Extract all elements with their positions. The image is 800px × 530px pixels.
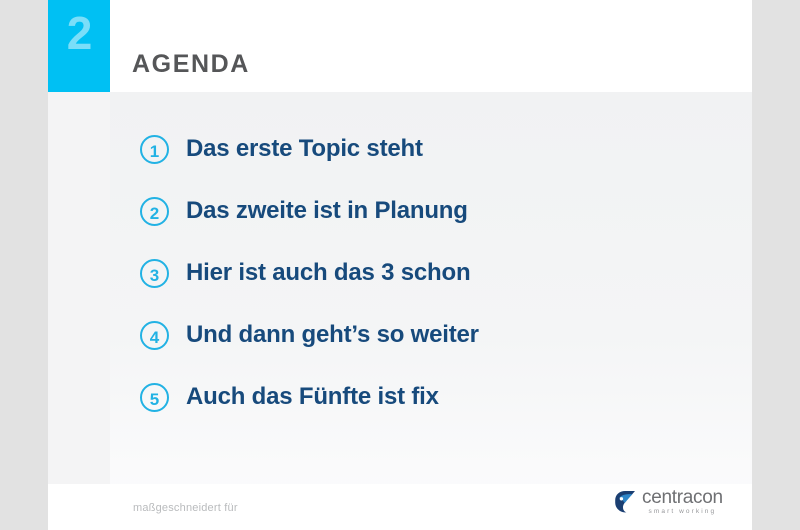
- page-title: AGENDA: [132, 50, 250, 79]
- slide-number: 2: [48, 0, 110, 56]
- bullet-number-icon: 5: [140, 383, 169, 412]
- list-item-label: Das zweite ist in Planung: [186, 197, 468, 225]
- logo-text: centracon smart working: [642, 488, 723, 516]
- body-left-gutter: [48, 92, 110, 530]
- logo-wordmark: centracon: [642, 488, 723, 507]
- bullet-number-icon: 2: [140, 197, 169, 226]
- list-item[interactable]: 2 Das zweite ist in Planung: [110, 180, 752, 242]
- list-item-label: Das erste Topic steht: [186, 135, 423, 163]
- footer-note: maßgeschneidert für: [133, 502, 238, 514]
- slide-page: 2 AGENDA 1 Das erste Topic steht 2 Das z…: [0, 0, 800, 530]
- list-item[interactable]: 4 Und dann geht’s so weiter: [110, 304, 752, 366]
- company-logo: centracon smart working: [612, 484, 742, 520]
- list-item[interactable]: 3 Hier ist auch das 3 schon: [110, 242, 752, 304]
- bullet-number-icon: 4: [140, 321, 169, 350]
- list-item[interactable]: 1 Das erste Topic steht: [110, 118, 752, 180]
- bullet-number-icon: 1: [140, 135, 169, 164]
- list-item-label: Und dann geht’s so weiter: [186, 321, 479, 349]
- slide-number-block: 2: [48, 0, 110, 92]
- list-item-label: Auch das Fünfte ist fix: [186, 383, 439, 411]
- list-item-label: Hier ist auch das 3 schon: [186, 259, 470, 287]
- logo-tagline: smart working: [642, 507, 723, 516]
- list-item[interactable]: 5 Auch das Fünfte ist fix: [110, 366, 752, 428]
- agenda-list: 1 Das erste Topic steht 2 Das zweite ist…: [110, 92, 752, 510]
- bullet-number-icon: 3: [140, 259, 169, 288]
- droplet-icon: [612, 489, 638, 515]
